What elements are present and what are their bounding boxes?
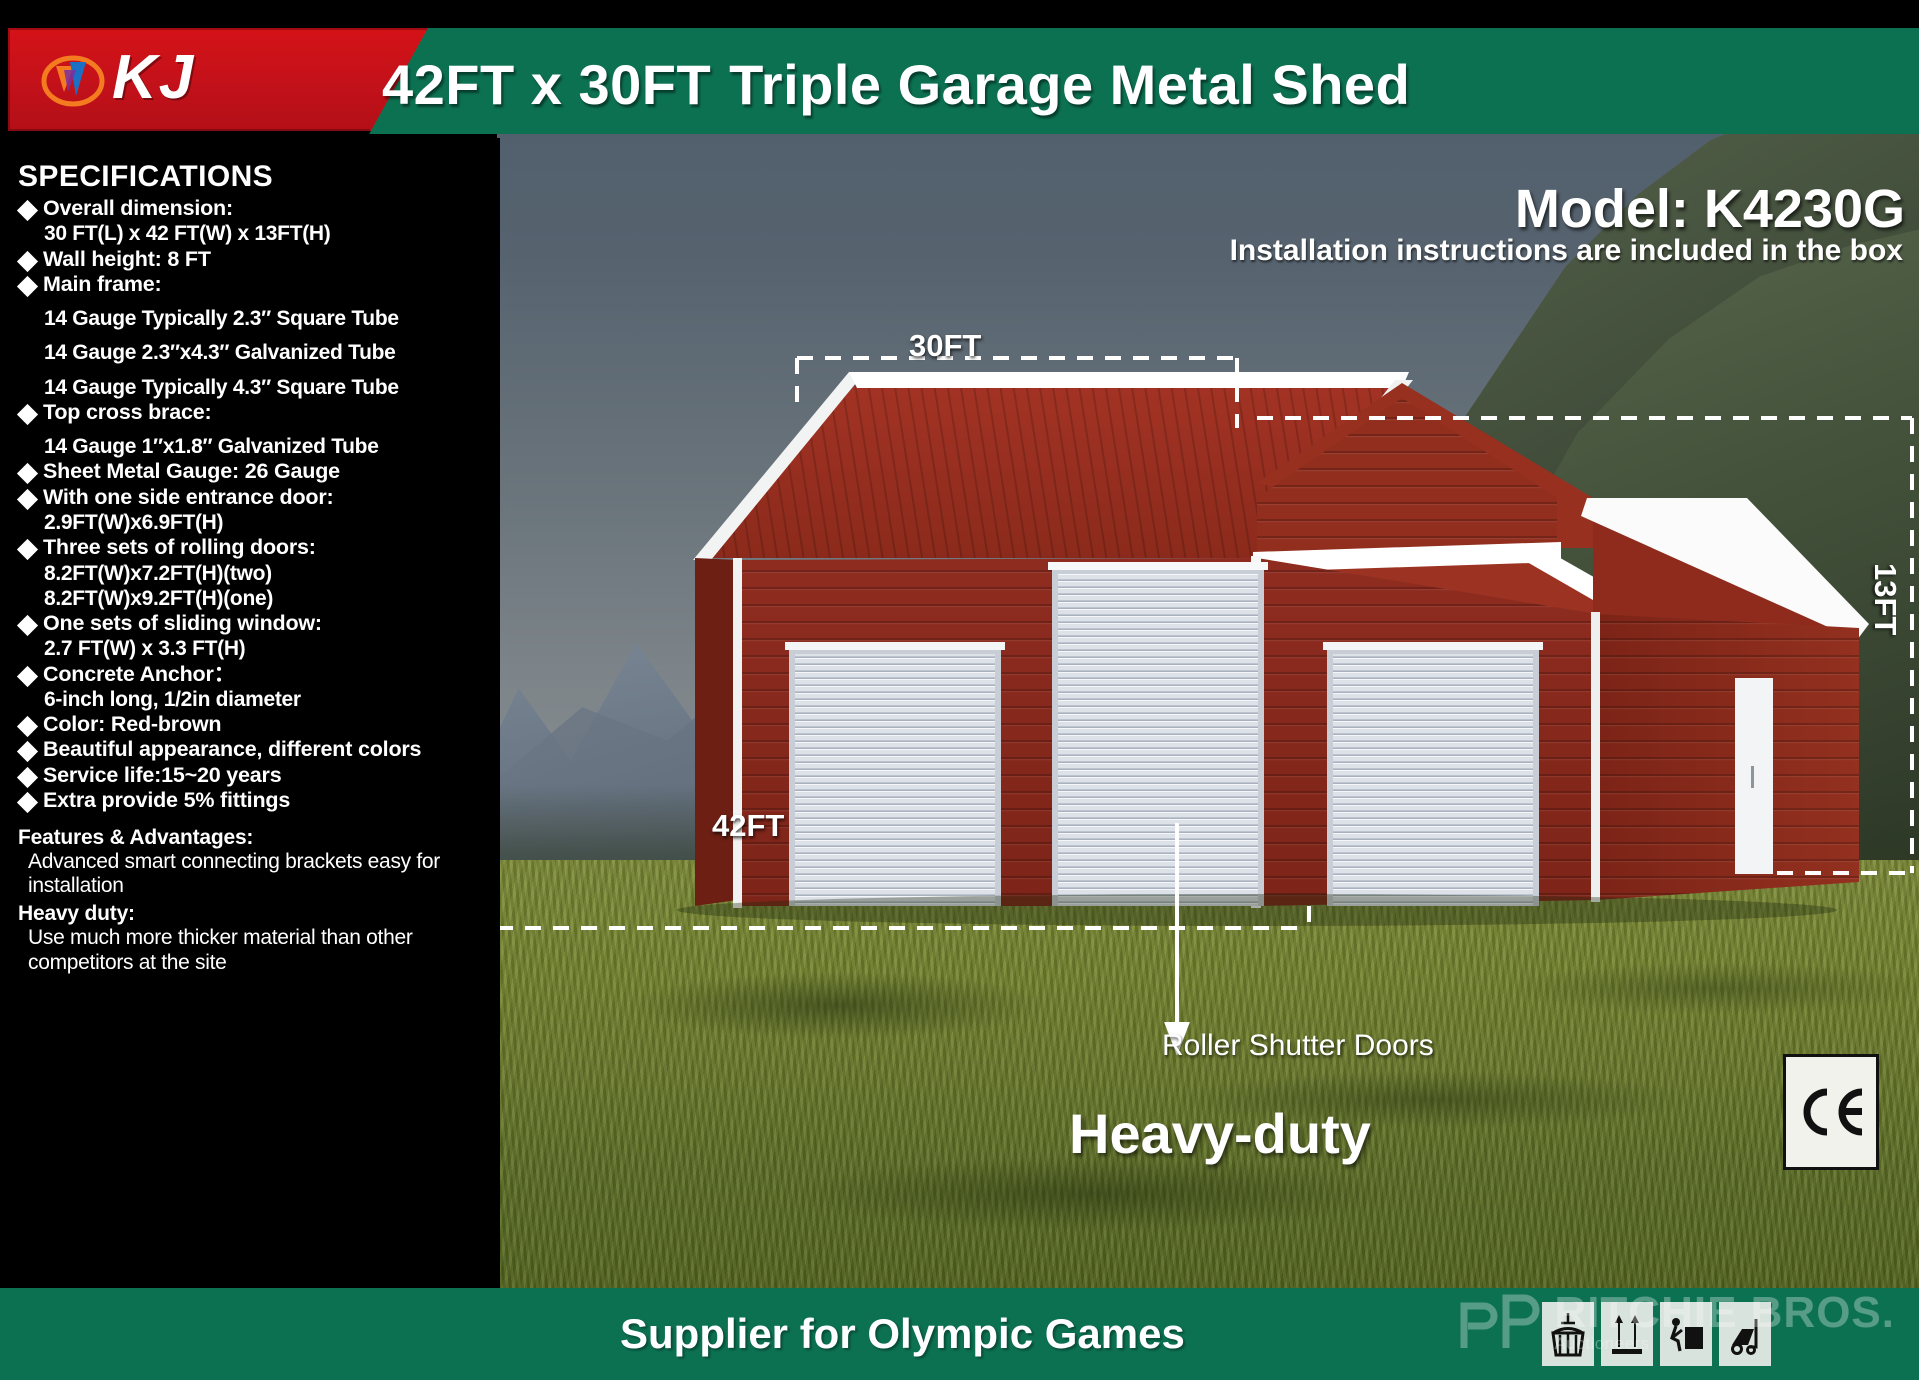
spec-item: Color: Red-brown	[18, 712, 494, 737]
spec-item-label: One sets of sliding window:	[43, 611, 322, 636]
spec-item-label: Color: Red-brown	[43, 712, 221, 737]
spec-item-detail: 2.9FT(W)x6.9FT(H)	[44, 510, 494, 535]
specifications-panel: SPECIFICATIONS Overall dimension:30 FT(L…	[0, 138, 500, 1288]
shipping-icon-group	[1542, 1302, 1771, 1366]
kj-swirl-logo-icon	[40, 52, 106, 110]
spec-item: Wall height: 8 FT	[18, 247, 494, 272]
spec-item-label: Beautiful appearance, different colors	[43, 737, 421, 762]
spec-item-label: Concrete Anchor：	[43, 662, 235, 687]
specifications-heading: SPECIFICATIONS	[18, 160, 494, 194]
spec-item: Beautiful appearance, different colors	[18, 737, 494, 762]
footer-tagline: Supplier for Olympic Games	[620, 1310, 1185, 1358]
diamond-bullet-icon	[17, 489, 38, 510]
spec-item: Main frame:	[18, 272, 494, 297]
diamond-bullet-icon	[17, 200, 38, 221]
heavy-duty-body: Use much more thicker material than othe…	[28, 926, 494, 975]
dimension-depth-label: 30FT	[909, 328, 981, 364]
heavy-duty-tagline: Heavy-duty	[1069, 1101, 1371, 1166]
crate-hoist-icon	[1542, 1302, 1594, 1366]
diamond-bullet-icon	[17, 539, 38, 560]
spec-item: Sheet Metal Gauge: 26 Gauge	[18, 459, 494, 484]
top-black-bar	[0, 0, 1919, 28]
spec-item-detail: 14 Gauge 2.3″x4.3″ Galvanized Tube	[44, 340, 494, 365]
product-poster: Model: K4230G Installation instructions …	[0, 0, 1919, 1380]
spec-item-label: Overall dimension:	[43, 196, 233, 221]
diamond-bullet-icon	[17, 767, 38, 788]
diamond-bullet-icon	[17, 250, 38, 271]
spec-item-detail: 14 Gauge 1″x1.8″ Galvanized Tube	[44, 434, 494, 459]
spec-item-label: Wall height: 8 FT	[43, 247, 211, 272]
spec-item: Three sets of rolling doors:	[18, 535, 494, 560]
diamond-bullet-icon	[17, 665, 38, 686]
spec-item: Service life:15~20 years	[18, 763, 494, 788]
spec-item: With one side entrance door:	[18, 485, 494, 510]
model-label: Model: K4230G	[1515, 178, 1905, 240]
features-heading: Features & Advantages:	[18, 826, 494, 850]
spec-item-label: Top cross brace:	[43, 400, 211, 425]
no-hand-truck-icon	[1660, 1302, 1712, 1366]
spec-item: Overall dimension:	[18, 196, 494, 221]
diamond-bullet-icon	[17, 404, 38, 425]
diamond-bullet-icon	[17, 741, 38, 762]
spec-item-detail: 14 Gauge Typically 4.3″ Square Tube	[44, 375, 494, 400]
spec-item: Top cross brace:	[18, 400, 494, 425]
spec-item-detail: 2.7 FT(W) x 3.3 FT(H)	[44, 636, 494, 661]
spec-item-detail: 8.2FT(W)x7.2FT(H)(two)	[44, 561, 494, 586]
spec-item-detail: 6-inch long, 1/2in diameter	[44, 687, 494, 712]
spec-item-detail: 30 FT(L) x 42 FT(W) x 13FT(H)	[44, 221, 494, 246]
spec-item-label: Service life:15~20 years	[43, 763, 281, 788]
diamond-bullet-icon	[17, 615, 38, 636]
product-size: 42FT x 30FT	[382, 53, 711, 116]
spec-item-label: Extra provide 5% fittings	[43, 788, 290, 813]
brand-name: KJ	[112, 42, 195, 113]
product-photo: Model: K4230G Installation instructions …	[497, 28, 1919, 1288]
rb-monogram-icon	[1458, 1292, 1544, 1354]
roller-shutter-doors-label: Roller Shutter Doors	[1162, 1029, 1434, 1063]
specification-list: Overall dimension:30 FT(L) x 42 FT(W) x …	[18, 196, 494, 814]
diamond-bullet-icon	[17, 716, 38, 737]
installation-note: Installation instructions are included i…	[1230, 234, 1903, 268]
ce-mark-badge	[1783, 1054, 1879, 1170]
spec-item-detail: 8.2FT(W)x9.2FT(H)(one)	[44, 586, 494, 611]
diamond-bullet-icon	[17, 463, 38, 484]
forklift-icon	[1719, 1302, 1771, 1366]
spec-item-detail: 14 Gauge Typically 2.3″ Square Tube	[44, 306, 494, 331]
spec-item: Concrete Anchor：	[18, 662, 494, 687]
product-title: 42FT x 30FTTriple Garage Metal Shed	[382, 52, 1410, 117]
spec-item: One sets of sliding window:	[18, 611, 494, 636]
poster-header: KJ 42FT x 30FTTriple Garage Metal Shed	[0, 28, 1919, 134]
dimension-height-label: 13FT	[1867, 563, 1903, 635]
diamond-bullet-icon	[17, 792, 38, 813]
product-type: Triple Garage Metal Shed	[729, 53, 1410, 116]
features-body: Advanced smart connecting brackets easy …	[28, 850, 494, 899]
spec-item-label: Three sets of rolling doors:	[43, 535, 316, 560]
spec-item-label: Main frame:	[43, 272, 161, 297]
spec-item-label: Sheet Metal Gauge: 26 Gauge	[43, 459, 340, 484]
dimension-width-label: 42FT	[712, 808, 784, 844]
spec-item-label: With one side entrance door:	[43, 485, 333, 510]
spec-item: Extra provide 5% fittings	[18, 788, 494, 813]
heavy-duty-heading: Heavy duty:	[18, 902, 494, 926]
poster-footer: Supplier for Olympic Games	[0, 1288, 1919, 1380]
this-side-up-icon	[1601, 1302, 1653, 1366]
diamond-bullet-icon	[17, 276, 38, 297]
ce-icon	[1796, 1086, 1866, 1138]
